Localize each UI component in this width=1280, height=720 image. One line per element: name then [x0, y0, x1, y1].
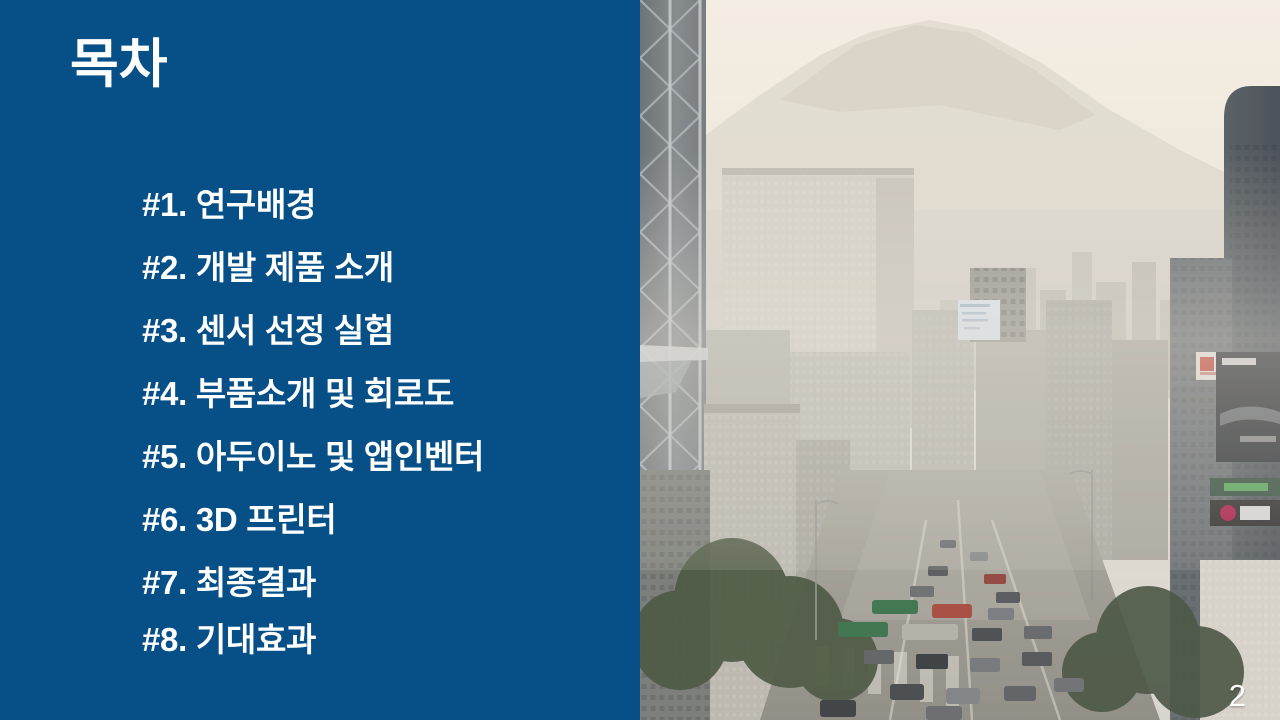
- city-skyline-photo: 2: [640, 0, 1280, 720]
- toc-item-2[interactable]: #2. 개발 제품 소개: [142, 251, 622, 284]
- atmosphere-wash: [640, 0, 1280, 720]
- toc-item-7[interactable]: #7. 최종결과: [142, 566, 622, 599]
- toc-item-1[interactable]: #1. 연구배경: [142, 188, 622, 221]
- toc-item-3[interactable]: #3. 센서 선정 실험: [142, 314, 622, 347]
- title-panel: 목차 #1. 연구배경 #2. 개발 제품 소개 #3. 센서 선정 실험 #4…: [0, 0, 640, 720]
- toc-item-8[interactable]: #8. 기대효과: [142, 623, 622, 656]
- slide: 2 목차 #1. 연구배경 #2. 개발 제품 소개 #3. 센서 선정 실험 …: [0, 0, 1280, 720]
- toc-item-6[interactable]: #6. 3D 프린터: [142, 503, 622, 536]
- table-of-contents: #1. 연구배경 #2. 개발 제품 소개 #3. 센서 선정 실험 #4. 부…: [142, 188, 622, 656]
- photo-illustration: [640, 0, 1280, 720]
- page-number: 2: [1229, 678, 1246, 714]
- page-title: 목차: [70, 36, 168, 94]
- toc-item-4[interactable]: #4. 부품소개 및 회로도: [142, 377, 622, 410]
- toc-item-5[interactable]: #5. 아두이노 및 앱인벤터: [142, 440, 622, 473]
